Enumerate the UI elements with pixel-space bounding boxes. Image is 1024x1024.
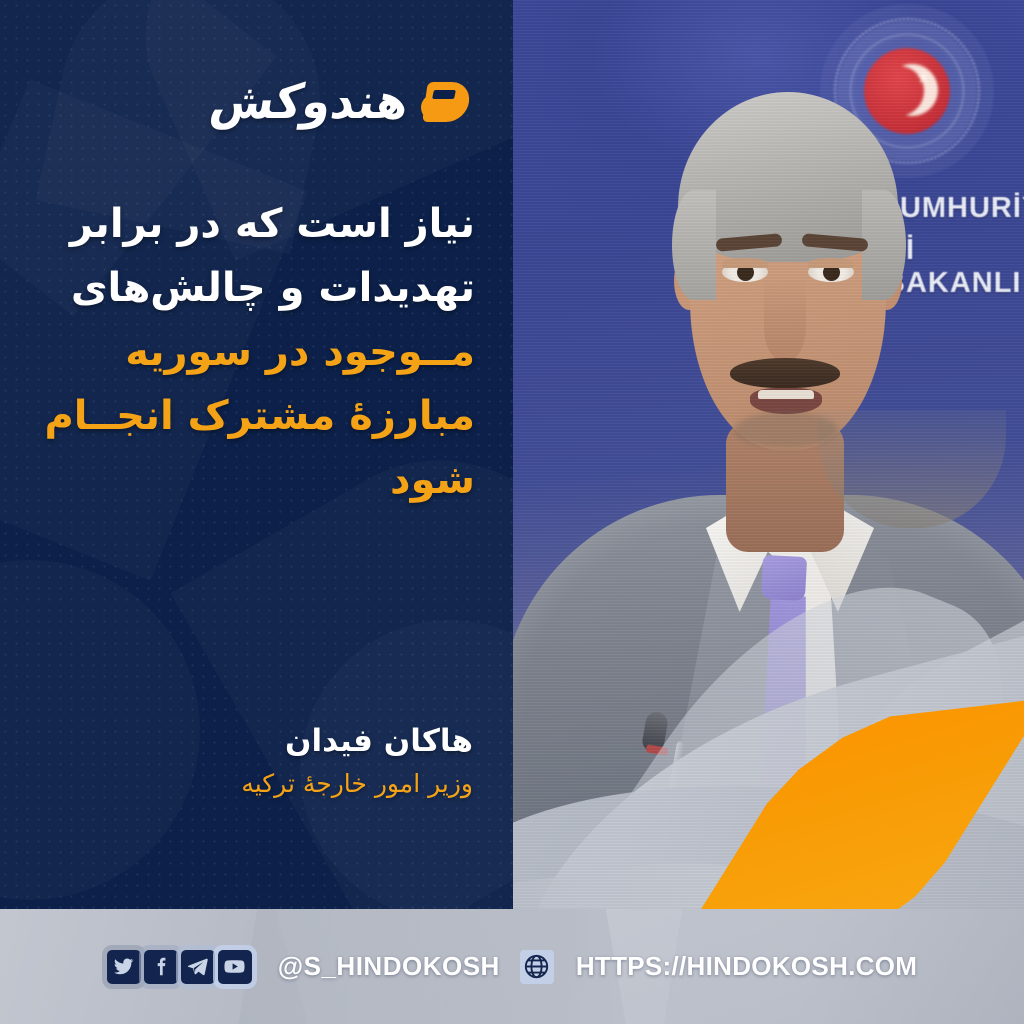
telegram-icon[interactable]: [181, 950, 215, 984]
footer-content-row: @S_HINDOKOSH HTTPS://HINDOKOSH.COM: [0, 909, 1024, 1024]
quote-headline: نیاز است که در برابر تهدیدات و چالش‌های …: [39, 192, 475, 512]
headline-line-3: مــوجود در سوریه: [39, 320, 475, 384]
social-media-quote-card: CUMHURİY Rİ BAKANLI: [0, 0, 1024, 1024]
footer-bar: @S_HINDOKOSH HTTPS://HINDOKOSH.COM: [0, 909, 1024, 1024]
attribution: هاکان فیدان وزیر امور خارجۀ ترکیه: [37, 718, 473, 803]
headline-line-2: تهدیدات و چالش‌های: [39, 256, 475, 320]
social-links: [107, 950, 252, 984]
social-handle[interactable]: @S_HINDOKOSH: [278, 951, 500, 982]
headline-line-5: شود: [39, 448, 475, 512]
twitter-icon[interactable]: [107, 950, 141, 984]
headline-line-4: مبارزۀ مشترک انجــام: [39, 384, 475, 448]
headline-line-1: نیاز است که در برابر: [39, 192, 475, 256]
logo-leaf-mark-icon: [419, 74, 473, 128]
speaker-role: وزیر امور خارجۀ ترکیه: [37, 765, 473, 804]
quote-panel: هندوکش نیاز است که در برابر تهدیدات و چا…: [0, 0, 513, 909]
site-logo[interactable]: هندوکش: [211, 74, 473, 128]
globe-icon: [520, 950, 554, 984]
logo-wordmark: هندوکش: [207, 73, 414, 130]
facebook-icon[interactable]: [144, 950, 178, 984]
website-url[interactable]: HTTPS://HINDOKOSH.COM: [576, 951, 917, 982]
speaker-name: هاکان فیدان: [37, 718, 473, 765]
youtube-icon[interactable]: [218, 950, 252, 984]
